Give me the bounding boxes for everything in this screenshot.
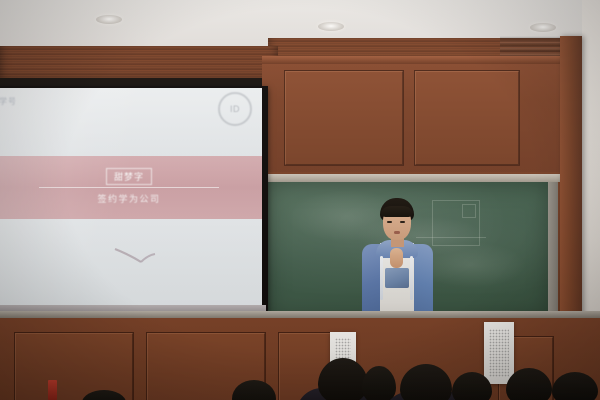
clasped-hands (390, 248, 403, 268)
downlight-icon (530, 23, 556, 32)
wood-wall-upper (262, 56, 570, 180)
mouth (394, 231, 400, 234)
hood-drawstring (380, 256, 383, 300)
wall-panel (284, 70, 404, 166)
eye (387, 221, 392, 223)
wall-panel (414, 70, 520, 166)
wall-cornice (262, 56, 570, 64)
speaker-grill (489, 329, 508, 376)
hair-fringe (381, 206, 413, 217)
hood-drawstring (410, 256, 413, 300)
wainscot-panel (14, 332, 134, 400)
wainscot-cap-rail (0, 311, 600, 318)
projection-screen: 的学号 ID 甜梦字 签约学为公司 (0, 88, 262, 310)
downlight-icon (96, 15, 122, 24)
red-object (48, 380, 57, 400)
eye (400, 221, 405, 223)
shirt-graphic (385, 268, 409, 288)
blackboard-top-ledge (264, 174, 564, 182)
speaker-cabinet (484, 322, 514, 384)
blackboard-side-strip (548, 182, 558, 320)
downlight-icon (318, 22, 344, 31)
chalk-mark (462, 204, 476, 218)
screen-glare (0, 88, 262, 310)
lecture-hall-photo: 的学号 ID 甜梦字 签约学为公司 (0, 0, 600, 400)
